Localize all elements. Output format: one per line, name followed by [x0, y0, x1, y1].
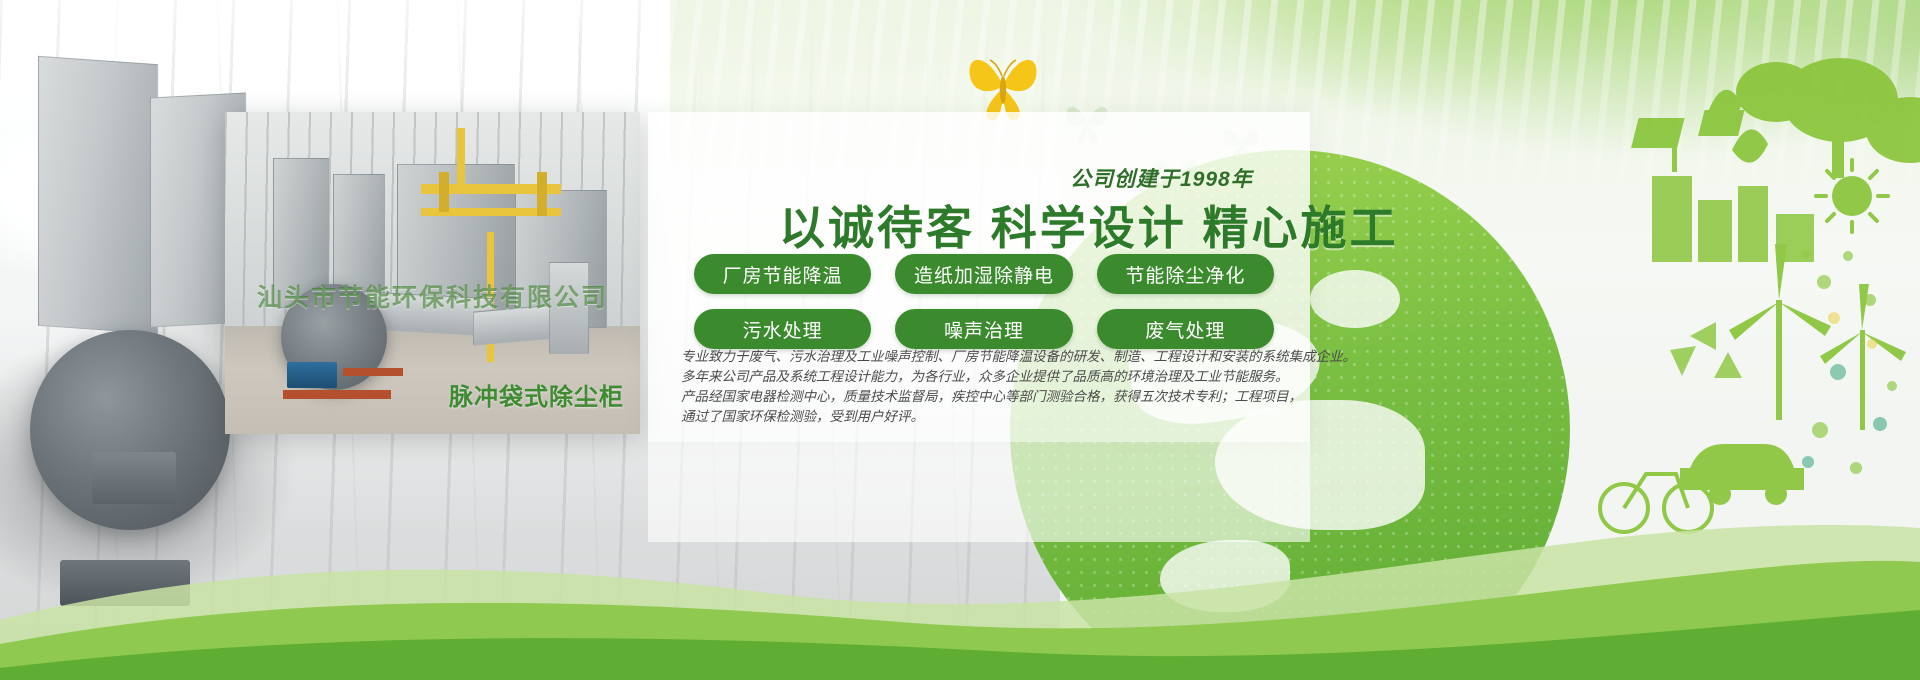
photo-yellow-post: [537, 172, 547, 216]
service-badge-waste-gas[interactable]: 废气处理: [1097, 309, 1274, 349]
service-badge-paper-humidify[interactable]: 造纸加湿除静电: [895, 254, 1072, 294]
wind-turbine-icon: [1729, 244, 1831, 420]
established-text: 公司创建于1998年: [1070, 163, 1253, 193]
background-duct: [38, 56, 158, 334]
service-badge-noise[interactable]: 噪声治理: [895, 309, 1072, 349]
photo-ladder-rail: [457, 128, 465, 190]
background-base: [60, 560, 190, 606]
decorative-dots: [1802, 364, 1887, 468]
sun-ray: [1827, 171, 1834, 178]
photo-motor: [287, 362, 337, 388]
service-badge-sewage[interactable]: 污水处理: [694, 309, 871, 349]
sun-ray: [1827, 214, 1834, 221]
car-icon: [1680, 444, 1804, 505]
description-line: 通过了国家环保检测验，受到用户好评。: [681, 407, 1306, 427]
product-photo-card: 汕头市节能环保科技有限公司 脉冲袋式除尘柜: [225, 112, 640, 434]
bicycle-icon: [1600, 474, 1712, 532]
photo-base-frame: [283, 390, 391, 399]
solar-panel-icon: [1631, 118, 1684, 172]
tree-trunk: [1832, 132, 1844, 178]
sun-icon: [1832, 176, 1872, 216]
leaf-icon: [1708, 90, 1742, 123]
globe-continent: [1160, 540, 1290, 612]
photo-base-frame: [343, 368, 403, 376]
photo-yellow-post: [439, 172, 449, 212]
solar-panel-icon: [1698, 110, 1744, 136]
description-line: 专业致力于废气、污水治理及工业噪声控制、厂房节能降温设备的研发、制造、工程设计和…: [681, 347, 1306, 367]
service-badge-list: 厂房节能降温 造纸加湿除静电 节能除尘净化 污水处理 噪声治理 废气处理: [694, 254, 1274, 349]
promotional-banner: 汕头市节能环保科技有限公司 脉冲袋式除尘柜 公司创建于1998年 以诚待客 科学…: [0, 0, 1920, 680]
headline-slogan: 以诚待客 科学设计 精心施工: [779, 192, 1399, 258]
description-line: 产品经国家电器检测中心，质量技术监督局，疾控中心等部门测验合格，获得五次技术专利…: [681, 387, 1306, 407]
decorative-dots: [1802, 250, 1897, 474]
tree-icon: [1866, 97, 1920, 163]
recycle-icon: [1670, 322, 1742, 378]
tree-icon: [1782, 58, 1898, 142]
sun-ray: [1870, 214, 1877, 221]
service-badge-dust-purify[interactable]: 节能除尘净化: [1097, 254, 1274, 294]
description-line: 多年来公司产品及系统工程设计能力，为各行业，众多企业提供了品质高的环境治理及工业…: [681, 367, 1306, 387]
wind-turbine-icon: [1820, 284, 1906, 430]
city-building-icon: [1652, 176, 1814, 262]
company-description: 专业致力于废气、污水治理及工业噪声控制、厂房节能降温设备的研发、制造、工程设计和…: [681, 347, 1306, 427]
background-motor: [92, 452, 176, 504]
tree-icon: [1736, 62, 1816, 122]
photo-watermark: 汕头市节能环保科技有限公司: [257, 278, 608, 314]
sun-ray: [1870, 171, 1877, 178]
service-badge-factory-cooling[interactable]: 厂房节能降温: [694, 254, 871, 294]
globe-continent: [1310, 270, 1400, 328]
content-panel-lower: [648, 442, 1310, 542]
photo-caption: 脉冲袋式除尘柜: [449, 377, 624, 412]
leaf-icon: [1732, 129, 1768, 162]
decorative-dots: [1828, 312, 1877, 349]
